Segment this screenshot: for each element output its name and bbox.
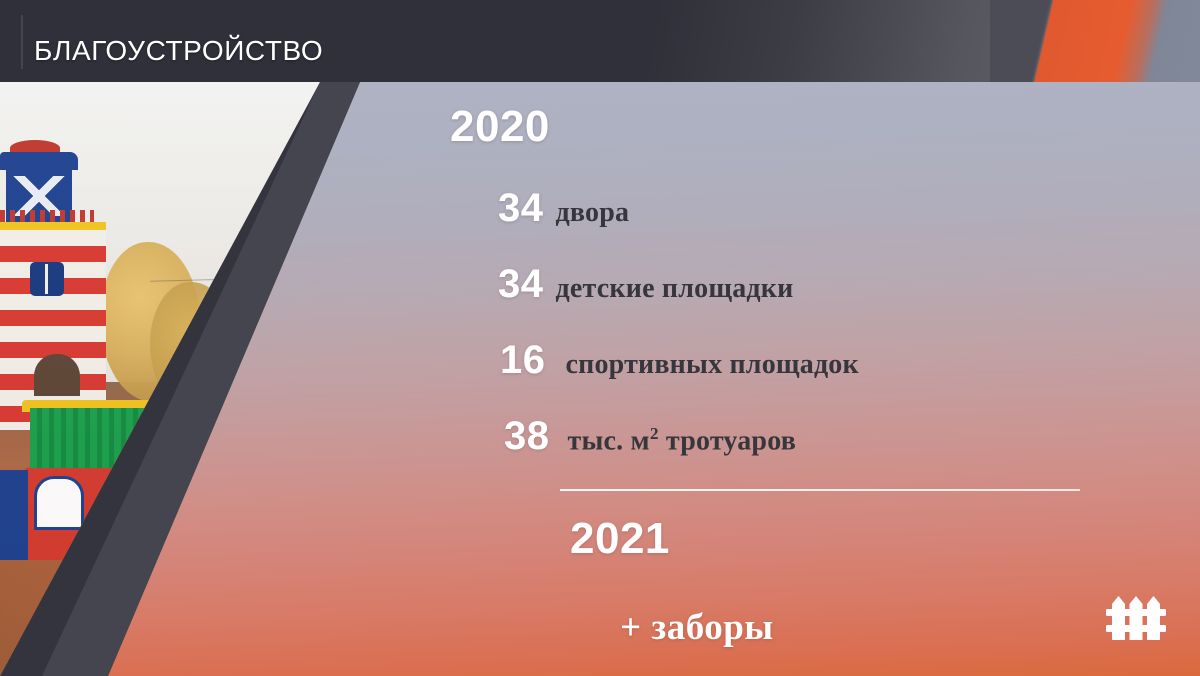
content-area: 2020 34 двора 34 детские площадки 16 спо… <box>0 82 1200 676</box>
fence-icon <box>1106 590 1166 648</box>
stat-label: двора <box>556 197 630 229</box>
stat-row: 34 двора <box>498 186 629 231</box>
stat-number: 34 <box>498 262 544 307</box>
title-rule <box>21 15 23 69</box>
stat-label: тыс. м2 тротуаров <box>568 424 797 457</box>
slide-root: БЛАГОУСТРОЙСТВО 2020 34 двора 34 детские… <box>0 0 1200 676</box>
highlight-text: + заборы <box>620 606 774 649</box>
year-heading-2020: 2020 <box>450 102 550 152</box>
stat-number: 34 <box>498 186 544 231</box>
section-divider <box>560 489 1080 491</box>
stat-row: 34 детские площадки <box>498 262 793 307</box>
stat-label-superscript: 2 <box>650 424 659 443</box>
header-orange-accent <box>990 0 1200 82</box>
stat-row: 16 спортивных площадок <box>500 338 859 383</box>
stat-number: 16 <box>500 338 546 383</box>
year-heading-2021: 2021 <box>570 514 670 564</box>
stat-label-pre: тыс. м <box>568 425 650 456</box>
stat-label: спортивных площадок <box>566 349 859 381</box>
stat-label-post: тротуаров <box>659 425 796 456</box>
page-title: БЛАГОУСТРОЙСТВО <box>34 37 323 65</box>
stat-label: детские площадки <box>556 273 794 305</box>
stat-number: 38 <box>504 414 550 459</box>
stat-row: 38 тыс. м2 тротуаров <box>504 414 796 459</box>
